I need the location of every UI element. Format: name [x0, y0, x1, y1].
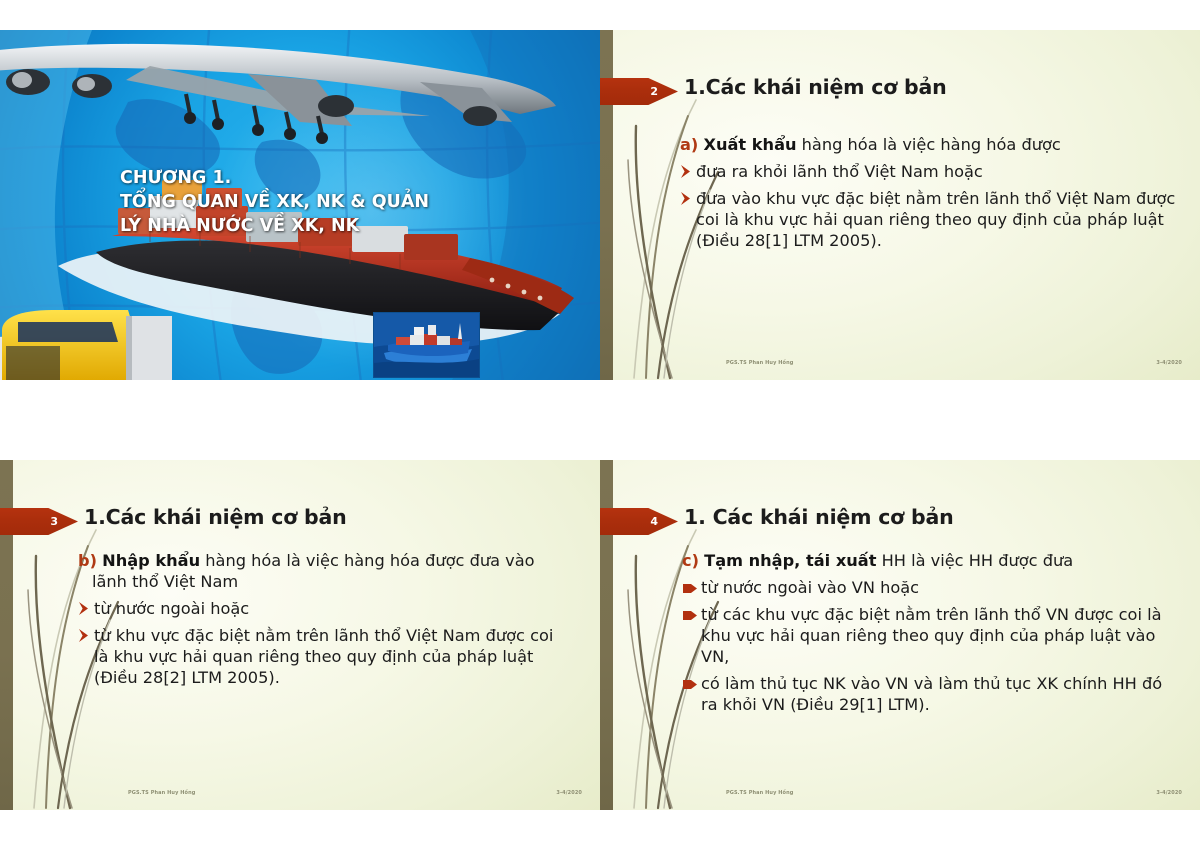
slide-1[interactable]: CHƯƠNG 1. TỔNG QUAN VỀ XK, NK & QUẢN LÝ … [0, 30, 600, 380]
item-text: đưa ra khỏi lãnh thổ Việt Nam hoặc [696, 162, 983, 181]
body-line-2: từ nước ngoài vào VN hoặc [682, 577, 1176, 598]
slide-3[interactable]: 3 1.Các khái niệm cơ bản b) Nhập khẩu hà… [0, 460, 600, 810]
body-line-1: c) Tạm nhập, tái xuất HH là việc HH được… [682, 550, 1176, 571]
item-strong: Xuất khẩu [703, 135, 796, 154]
inset-ship-photo [373, 312, 480, 378]
item-text: đưa vào khu vực đặc biệt nằm trên lãnh t… [696, 189, 1175, 250]
truck [0, 310, 172, 380]
body-line-3: đưa vào khu vực đặc biệt nằm trên lãnh t… [680, 188, 1178, 251]
chevron-bullet-icon [78, 629, 89, 642]
body-line-4: có làm thủ tục NK vào VN và làm thủ tục … [682, 673, 1176, 715]
slide-1-title: CHƯƠNG 1. TỔNG QUAN VỀ XK, NK & QUẢN LÝ … [120, 167, 550, 238]
item-text: từ nước ngoài hoặc [94, 599, 249, 618]
slide-body: c) Tạm nhập, tái xuất HH là việc HH được… [682, 550, 1176, 721]
body-line-1: b) Nhập khẩu hàng hóa là việc hàng hóa đ… [78, 550, 572, 592]
flag-bullet-icon [683, 583, 697, 594]
item-label: a) [680, 135, 698, 154]
body-line-2: đưa ra khỏi lãnh thổ Việt Nam hoặc [680, 161, 1178, 182]
footer-author: PGS.TS Phan Huy Hồng [128, 790, 195, 796]
chevron-bullet-icon [78, 602, 89, 615]
footer-date: 3-4/2020 [1156, 360, 1182, 366]
slide-title: 1. Các khái niệm cơ bản [684, 506, 1186, 529]
footer-date: 3-4/2020 [1156, 790, 1182, 796]
title-line-1: CHƯƠNG 1. [120, 167, 550, 191]
body-line-1: a) Xuất khẩu hàng hóa là việc hàng hóa đ… [680, 134, 1178, 155]
slide-1-photo: CHƯƠNG 1. TỔNG QUAN VỀ XK, NK & QUẢN LÝ … [0, 30, 600, 380]
item-text: từ nước ngoài vào VN hoặc [701, 578, 919, 597]
body-line-3: từ các khu vực đặc biệt nằm trên lãnh th… [682, 604, 1176, 667]
flag-bullet-icon [683, 610, 697, 621]
item-label: b) [78, 551, 97, 570]
title-line-2: TỔNG QUAN VỀ XK, NK & QUẢN [120, 191, 550, 215]
slide-deck-page: CHƯƠNG 1. TỔNG QUAN VỀ XK, NK & QUẢN LÝ … [0, 0, 1200, 849]
item-text: từ khu vực đặc biệt nằm trên lãnh thổ Vi… [94, 626, 553, 687]
body-line-3: từ khu vực đặc biệt nằm trên lãnh thổ Vi… [78, 625, 572, 688]
item-text: hàng hóa là việc hàng hóa được [797, 135, 1061, 154]
slide-body: b) Nhập khẩu hàng hóa là việc hàng hóa đ… [78, 550, 572, 694]
body-line-2: từ nước ngoài hoặc [78, 598, 572, 619]
footer-date: 3-4/2020 [556, 790, 582, 796]
flag-bullet-icon [683, 679, 697, 690]
slide-title: 1.Các khái niệm cơ bản [684, 76, 1186, 99]
slide-number: 2 [650, 86, 658, 97]
chevron-bullet-icon [680, 165, 691, 178]
footer-author: PGS.TS Phan Huy Hồng [726, 790, 793, 796]
slide-number: 4 [650, 516, 658, 527]
footer-author: PGS.TS Phan Huy Hồng [726, 360, 793, 366]
chevron-bullet-icon [680, 192, 691, 205]
slide-number: 3 [50, 516, 58, 527]
item-strong: Tạm nhập, tái xuất [704, 551, 876, 570]
item-text: có làm thủ tục NK vào VN và làm thủ tục … [701, 674, 1162, 714]
slide-body: a) Xuất khẩu hàng hóa là việc hàng hóa đ… [680, 134, 1178, 257]
slide-title: 1.Các khái niệm cơ bản [84, 506, 586, 529]
item-strong: Nhập khẩu [102, 551, 200, 570]
title-line-3: LÝ NHÀ NƯỚC VỀ XK, NK [120, 215, 550, 239]
item-text: HH là việc HH được đưa [876, 551, 1073, 570]
slide-2[interactable]: 2 1.Các khái niệm cơ bản a) Xuất khẩu hà… [600, 30, 1200, 380]
item-text: từ các khu vực đặc biệt nằm trên lãnh th… [701, 605, 1162, 666]
slide-4[interactable]: 4 1. Các khái niệm cơ bản c) Tạm nhập, t… [600, 460, 1200, 810]
item-label: c) [682, 551, 699, 570]
